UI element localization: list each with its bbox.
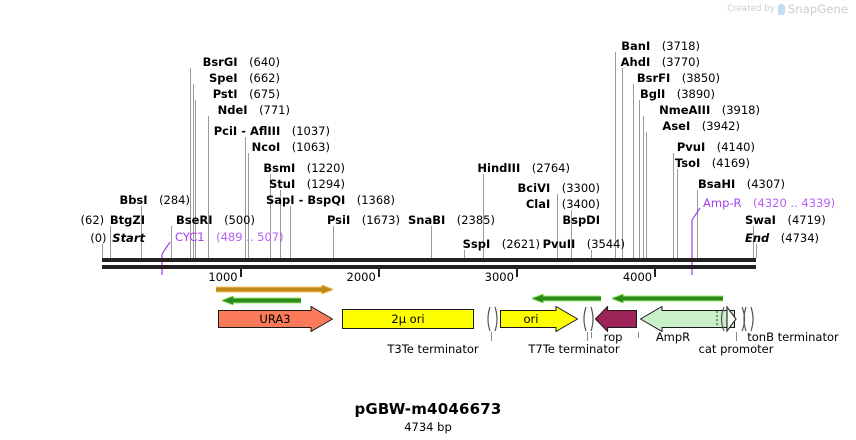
enzyme-label-bsahi: BsaHI (4307) xyxy=(698,178,785,190)
enzyme-label-stui: StuI (1294) xyxy=(269,178,345,190)
page-title: pGBW-m4046673 xyxy=(0,400,856,418)
enzyme-name: PvuII xyxy=(543,237,576,251)
marker-label-start: (0) Start xyxy=(90,232,145,244)
enzyme-label-asei: AseI (3942) xyxy=(662,120,740,132)
primer-name: Amp-R xyxy=(703,196,742,210)
feature-t3te-terminator-leader xyxy=(491,332,492,341)
ruler-tick-4000 xyxy=(654,269,656,277)
marker-name: BtgZI xyxy=(110,213,145,227)
enzyme-position: (3918) xyxy=(710,103,760,117)
enzyme-position: (4307) xyxy=(735,177,785,191)
enzyme-label-nmeaiii: NmeAIII (3918) xyxy=(659,104,760,116)
enzyme-position: (771) xyxy=(248,103,290,117)
enzyme-name: PciI - AflIII xyxy=(214,124,281,138)
enzyme-label-bbsi: BbsI (284) xyxy=(119,194,190,206)
enzyme-position: (4140) xyxy=(705,140,755,154)
plasmid-length-label: 4734 bp xyxy=(0,420,856,434)
enzyme-label-ahdi: AhdI (3770) xyxy=(621,56,700,68)
enzyme-label-ndei: NdeI (771) xyxy=(218,104,290,116)
enzyme-position: (2621) xyxy=(490,237,540,251)
enzyme-name: BspDI xyxy=(562,213,600,227)
leader-line-psii xyxy=(333,226,334,258)
enzyme-position: (3718) xyxy=(650,39,700,53)
enzyme-position: (3850) xyxy=(670,71,720,85)
feature-tonb-terminator-glyph xyxy=(744,306,754,332)
leader-line-end xyxy=(756,244,757,258)
marker-name: SwaI xyxy=(745,213,776,227)
leader-line-start xyxy=(102,244,103,258)
enzyme-label-ncoi: NcoI (1063) xyxy=(252,141,330,153)
enzyme-position: (1294) xyxy=(295,177,345,191)
enzyme-name: SspI xyxy=(463,237,491,251)
snapgene-logo-icon xyxy=(778,4,785,15)
enzyme-position: (1220) xyxy=(295,161,345,175)
feature-ampr-glyph[interactable] xyxy=(640,306,735,332)
enzyme-label-sspi: SspI (2621) xyxy=(463,238,540,250)
enzyme-position: (2764) xyxy=(520,161,570,175)
backbone-strand-top xyxy=(102,258,756,262)
ruler-label-2000: 2000 xyxy=(347,270,376,284)
enzyme-name: BsaHI xyxy=(698,177,735,191)
enzyme-name: BsmI xyxy=(263,161,295,175)
enzyme-label-sapi-bspqi: SapI - BspQI (1368) xyxy=(266,194,395,206)
enzyme-name: PvuI xyxy=(677,140,705,154)
leader-line-snabi xyxy=(431,226,432,258)
enzyme-name: AseI xyxy=(662,119,690,133)
enzyme-position: (1037) xyxy=(280,124,330,138)
green-arrow-left-3 xyxy=(612,294,723,303)
leader-line-tsoi xyxy=(677,169,678,258)
ruler-label-1000: 1000 xyxy=(208,270,237,284)
enzyme-label-spei: SpeI (662) xyxy=(209,72,280,84)
leader-line-bani xyxy=(615,52,616,258)
marker-position: (62) xyxy=(81,213,105,227)
enzyme-label-pcii-afliii: PciI - AflIII (1037) xyxy=(214,125,330,137)
enzyme-label-bsrgi: BsrGI (640) xyxy=(203,56,280,68)
green-arrow-left-2 xyxy=(532,294,601,303)
feature-ori-label: ori xyxy=(441,312,621,326)
ruler-label-3000: 3000 xyxy=(485,270,514,284)
feature-t7te-terminator-glyph xyxy=(584,306,594,332)
enzyme-position: (1368) xyxy=(345,193,395,207)
leader-line-sspi xyxy=(464,250,465,258)
created-by-label: Created by xyxy=(727,4,775,14)
enzyme-position: (3770) xyxy=(650,55,700,69)
enzyme-label-bspdi: BspDI xyxy=(562,214,600,226)
enzyme-name: PsiI xyxy=(327,213,350,227)
marker-position: (0) xyxy=(90,231,106,245)
enzyme-label-bani: BanI (3718) xyxy=(621,40,700,52)
enzyme-name: BseRI xyxy=(176,213,213,227)
enzyme-position: (675) xyxy=(238,87,280,101)
enzyme-label-clai: ClaI (3400) xyxy=(526,198,600,210)
marker-position: (4719) xyxy=(787,213,825,227)
enzyme-label-pvui: PvuI (4140) xyxy=(677,141,755,153)
marker-label-end: End (4734) xyxy=(745,232,819,244)
enzyme-label-bgli: BglI (3890) xyxy=(640,88,715,100)
marker-label-btgzi: (62) BtgZI xyxy=(81,214,145,226)
enzyme-name: BglI xyxy=(640,87,665,101)
feature-tonb-terminator-label: tonB terminator xyxy=(703,330,856,344)
primer-range: (489 .. 507) xyxy=(205,230,284,244)
enzyme-name: BciVI xyxy=(518,181,551,195)
enzyme-position: (284) xyxy=(148,193,190,207)
enzyme-position: (500) xyxy=(213,213,255,227)
primer-label-cyc1: CYC1 (489 .. 507) xyxy=(175,230,284,244)
ruler-tick-2000 xyxy=(378,269,380,277)
enzyme-position: (1063) xyxy=(280,140,330,154)
enzyme-position: (3300) xyxy=(550,181,600,195)
enzyme-name: NcoI xyxy=(252,140,281,154)
leader-line-sapi-bspqi xyxy=(290,206,291,258)
enzyme-name: ClaI xyxy=(526,197,550,211)
enzyme-name: StuI xyxy=(269,177,295,191)
enzyme-position: (4169) xyxy=(700,156,750,170)
enzyme-position: (640) xyxy=(238,55,280,69)
enzyme-name: SapI - BspQI xyxy=(266,193,345,207)
primer-range: (4320 .. 4339) xyxy=(742,196,836,210)
feature-rop-glyph[interactable] xyxy=(595,306,637,332)
marker-name: End xyxy=(745,231,769,245)
enzyme-name: TsoI xyxy=(675,156,700,170)
ruler-label-4000: 4000 xyxy=(623,270,652,284)
enzyme-name: HindIII xyxy=(477,161,520,175)
enzyme-position: (3942) xyxy=(690,119,740,133)
enzyme-name: SpeI xyxy=(209,71,238,85)
enzyme-name: AhdI xyxy=(621,55,651,69)
enzyme-name: BsrFI xyxy=(637,71,670,85)
enzyme-position: (3890) xyxy=(665,87,715,101)
green-arrow-left-1 xyxy=(222,296,301,305)
leader-line-bsrfi xyxy=(633,84,634,258)
feature-t7te-terminator-label: T7Te terminator xyxy=(484,342,664,356)
enzyme-name: NmeAIII xyxy=(659,103,710,117)
marker-label-swai: SwaI (4719) xyxy=(745,214,826,226)
enzyme-label-bsmi: BsmI (1220) xyxy=(263,162,345,174)
enzyme-label-hindiii: HindIII (2764) xyxy=(477,162,570,174)
ruler-tick-1000 xyxy=(240,269,242,277)
enzyme-position: (3544) xyxy=(575,237,625,251)
primer-name: CYC1 xyxy=(175,230,205,244)
enzyme-label-bsrfi: BsrFI (3850) xyxy=(637,72,720,84)
enzyme-name: BanI xyxy=(621,39,650,53)
enzyme-label-bseri: BseRI (500) xyxy=(176,214,255,226)
enzyme-name: BbsI xyxy=(119,193,147,207)
orange-arrow-right xyxy=(216,285,333,294)
enzyme-label-tsoi: TsoI (4169) xyxy=(675,157,750,169)
leader-line-pvuii xyxy=(591,250,592,258)
plasmid-map-canvas: Created by SnapGene BsrGI (640)SpeI (662… xyxy=(0,0,856,440)
snapgene-brand-label: SnapGene xyxy=(788,2,848,16)
leader-line-bgli xyxy=(639,100,640,258)
feature-cat-promoter-label: cat promoter xyxy=(646,342,826,356)
snapgene-credit: Created by SnapGene xyxy=(727,2,848,16)
marker-name: Start xyxy=(112,231,145,245)
enzyme-label-psti: PstI (675) xyxy=(213,88,280,100)
leader-line-ahdi xyxy=(622,68,623,258)
leader-line-nmeaiii xyxy=(643,116,644,258)
enzyme-label-pvuii: PvuII (3544) xyxy=(543,238,625,250)
enzyme-label-bcivi: BciVI (3300) xyxy=(518,182,600,194)
enzyme-label-psii: PsiI (1673) xyxy=(327,214,400,226)
ruler-tick-3000 xyxy=(516,269,518,277)
primer-label-amp-r: Amp-R (4320 .. 4339) xyxy=(703,196,835,210)
enzyme-position: (662) xyxy=(238,71,280,85)
enzyme-name: BsrGI xyxy=(203,55,238,69)
enzyme-label-snabi: SnaBI (2385) xyxy=(408,214,495,226)
marker-position: (4734) xyxy=(781,231,819,245)
backbone-strand-bottom xyxy=(102,265,756,269)
enzyme-position: (3400) xyxy=(550,197,600,211)
enzyme-name: PstI xyxy=(213,87,238,101)
enzyme-position: (2385) xyxy=(445,213,495,227)
enzyme-position: (1673) xyxy=(350,213,400,227)
enzyme-name: NdeI xyxy=(218,103,248,117)
leader-line-asei xyxy=(646,132,647,258)
enzyme-name: SnaBI xyxy=(408,213,445,227)
